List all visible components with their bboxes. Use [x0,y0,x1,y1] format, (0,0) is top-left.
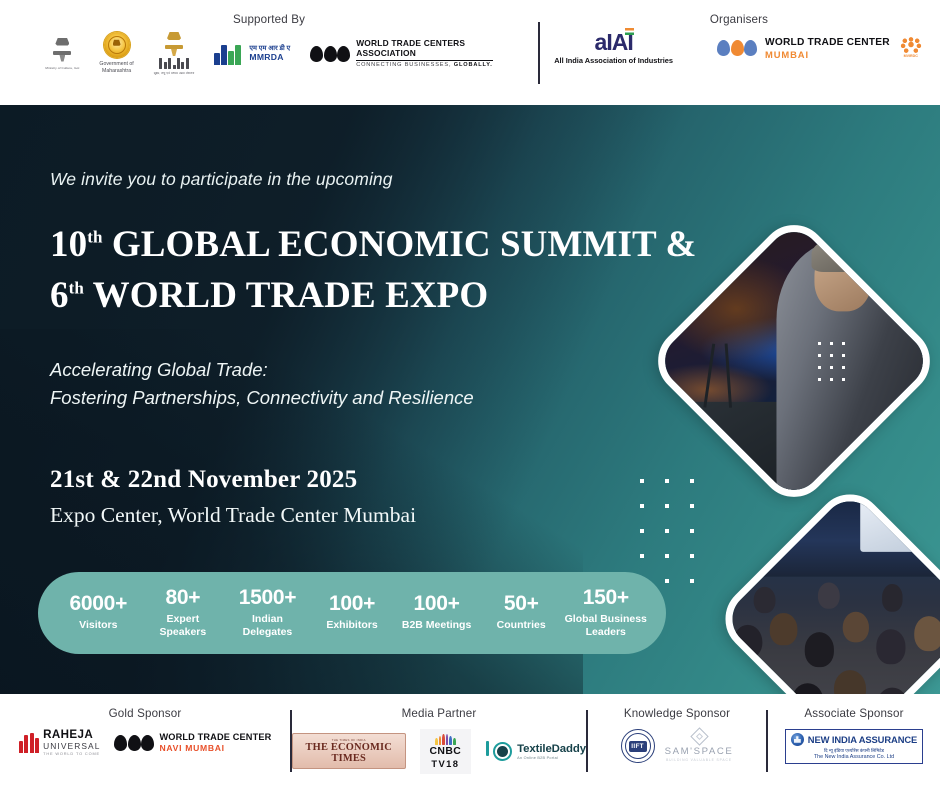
et-title: THE ECONOMIC TIMES [300,742,398,764]
mvirdc-mark: MVIRDC [898,36,924,60]
raheja-universal: UNIVERSAL [43,741,100,752]
dot-grid-decoration-small [818,342,845,381]
aiai-logo: aIAI All India Association of Industries [554,32,673,65]
sam-space-gem-icon [690,727,708,745]
india-flag-icon [625,28,634,35]
stat-item: 150+Global BusinessLeaders [563,587,648,639]
gold-medallion-icon [104,32,130,58]
wtca-globes-icon [310,46,350,62]
mvirdc-knot-icon [900,36,922,53]
msme-label: सूक्ष्म, लघु एवं मध्यम उद्यम मंत्रालय [154,71,195,75]
aiai-wordmark: aIAI [595,32,633,54]
supported-by-logo-row: Ministry of Culture, GoI Government of M… [0,32,538,75]
raheja-tagline: THE WORLD TO COME [43,751,100,756]
raheja-name: RAHEJA [43,729,100,741]
organisers-logo-row: aIAI All India Association of Industries… [538,32,940,65]
associate-sponsor-title: Associate Sponsor [768,694,940,720]
government-of-maharashtra-label: Government of Maharashtra [99,61,133,75]
textile-daddy-tagline: An Online B2B Portal [517,756,586,760]
cnbc-name: CNBC [430,746,462,758]
media-partner-section: Media Partner THE TIMES OF INDIA THE ECO… [292,694,586,788]
ministry-of-culture-emblem: Ministry of Culture, GoI [45,38,79,70]
textile-daddy-logo: TextileDaddy An Online B2B Portal [485,741,586,762]
knowledge-sponsor-section: Knowledge Sponsor IIFT SAM'SPACE BUILDIN… [588,694,766,788]
raheja-universal-logo: RAHEJA UNIVERSAL THE WORLD TO COME [19,729,101,756]
stat-value: 50+ [479,593,564,614]
event-title-1: GLOBAL ECONOMIC SUMMIT & [112,224,697,265]
nia-english: The New India Assurance Co. Ltd [791,754,917,760]
stat-value: 6000+ [56,593,141,614]
stat-value: 100+ [394,593,479,614]
supported-by-caption: Supported By [0,0,538,26]
cnbc-tv18-logo: CNBC TV18 [420,729,472,774]
iift-logo: IIFT [621,729,655,763]
ministry-of-culture-label: Ministry of Culture, GoI [45,66,79,70]
nia-globe-icon [791,733,804,746]
stat-item: 100+B2B Meetings [394,593,479,632]
stat-label: Visitors [56,619,141,632]
statistics-bar: 6000+Visitors80+ExpertSpeakers1500+India… [38,572,666,654]
wtca-logo: WORLD TRADE CENTERS ASSOCIATION CONNECTI… [310,39,492,68]
dot-grid-decoration [640,479,694,583]
mmrda-mark-icon [214,43,244,65]
gold-sponsor-title: Gold Sponsor [0,694,290,720]
edition-number-1: 10 [50,224,87,265]
msme-emblem: सूक्ष्म, लघु एवं मध्यम उद्यम मंत्रालय [154,32,195,75]
stat-value: 1500+ [225,587,310,608]
stat-label: B2B Meetings [394,619,479,632]
lion-capital-icon [52,38,72,64]
microphone-shape [703,344,715,407]
wtc-globes-icon [717,40,757,56]
economic-times-logo: THE TIMES OF INDIA THE ECONOMIC TIMES [292,733,406,769]
wtc-mumbai-text: WORLD TRADE CENTER MUMBAI [765,37,890,59]
hero-banner: We invite you to participate in the upco… [0,105,940,694]
tv18-name: TV18 [430,758,462,769]
raheja-mark-icon [19,733,40,753]
stat-label: Global BusinessLeaders [563,613,648,639]
stat-value: 100+ [310,593,395,614]
knowledge-sponsor-title: Knowledge Sponsor [588,694,766,720]
microphone-shape-2 [725,344,732,408]
wtc-navi-globes-icon [114,735,154,751]
wtc-navi-mumbai-logo: WORLD TRADE CENTER NAVI MUMBAI [114,732,271,752]
stat-item: 100+Exhibitors [310,593,395,632]
media-partner-title: Media Partner [292,694,586,720]
peacock-icon [430,734,462,745]
aiai-fullname: All India Association of Industries [554,56,673,65]
government-of-maharashtra-emblem: Government of Maharashtra [99,32,133,75]
edition-number-2: 6 [50,275,69,316]
stat-value: 150+ [563,587,648,608]
wtc-mumbai-logo: WORLD TRADE CENTER MUMBAI MVIRDC [717,36,924,60]
organisers-section: Organisers aIAI All India Association of… [538,0,940,105]
invitation-kicker: We invite you to participate in the upco… [50,169,940,190]
stat-label: Countries [479,619,564,632]
stat-item: 6000+Visitors [56,593,141,632]
stat-label: ExpertSpeakers [141,613,226,639]
supported-by-section: Supported By Ministry of Culture, GoI Go… [0,0,538,105]
organisers-caption: Organisers [538,0,940,26]
sam-space-name: SAM'SPACE [665,746,734,757]
stat-item: 1500+IndianDelegates [225,587,310,639]
msme-bars-icon [159,58,188,69]
new-india-assurance-logo: NEW INDIA ASSURANCE दि न्यू इंडिया एश्यो… [785,729,923,764]
ordinal-suffix-2: th [69,278,84,297]
stat-value: 80+ [141,587,226,608]
stat-item: 50+Countries [479,593,564,632]
sponsor-footer: Gold Sponsor RAHEJA UNIVERSAL THE WORLD … [0,694,940,788]
associate-sponsor-section: Associate Sponsor NEW INDIA ASSURANCE दि… [768,694,940,788]
textile-daddy-name: TextileDaddy [517,743,586,756]
sam-space-logo: SAM'SPACE BUILDING VALUABLE SPACE [665,730,734,762]
nia-name: NEW INDIA ASSURANCE [808,734,917,745]
stat-label: Exhibitors [310,619,395,632]
wtc-navi-line2: NAVI MUMBAI [159,743,271,753]
ordinal-suffix-1: th [87,228,102,247]
wtca-tagline: CONNECTING BUSINESSES, GLOBALLY. [356,62,492,68]
wtca-text: WORLD TRADE CENTERS ASSOCIATION CONNECTI… [356,39,492,68]
partner-bar: Supported By Ministry of Culture, GoI Go… [0,0,940,105]
wtc-navi-line1: WORLD TRADE CENTER [159,732,271,742]
iift-mark: IIFT [629,741,647,752]
lion-capital-gold-icon [164,32,184,58]
sam-space-tagline: BUILDING VALUABLE SPACE [665,758,734,762]
textile-daddy-mark-icon [485,741,512,762]
wtca-rule [356,60,492,61]
gold-sponsor-section: Gold Sponsor RAHEJA UNIVERSAL THE WORLD … [0,694,290,788]
mmrda-logo: एम एम आर डी ए MMRDA [214,43,290,65]
mmrda-text: एम एम आर डी ए MMRDA [249,45,290,63]
event-title-2: WORLD TRADE EXPO [93,275,489,316]
stat-item: 80+ExpertSpeakers [141,587,226,639]
stat-label: IndianDelegates [225,613,310,639]
